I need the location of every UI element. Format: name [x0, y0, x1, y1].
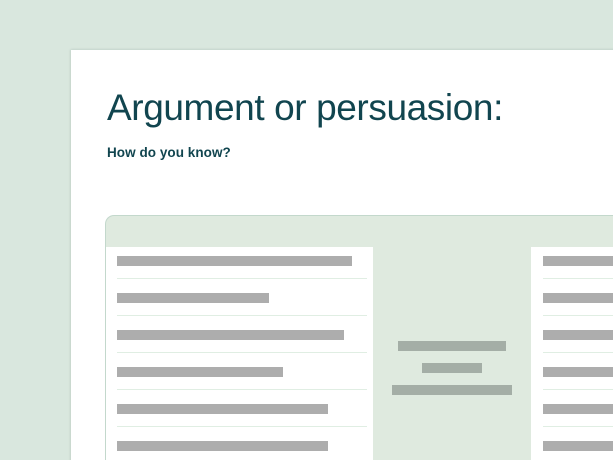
document-header: Argument or persuasion: How do you know?: [107, 86, 613, 161]
placeholder-text-bar: [117, 404, 328, 414]
placeholder-text-row: [531, 321, 613, 358]
placeholder-text-rule: [117, 352, 367, 353]
page-title: Argument or persuasion:: [107, 86, 613, 130]
placeholder-text-bar: [543, 367, 613, 377]
placeholder-text-rule: [117, 315, 367, 316]
placeholder-text-row: [106, 395, 373, 432]
document-card: Argument or persuasion: How do you know?: [71, 50, 613, 460]
placeholder-text-rule: [117, 389, 367, 390]
placeholder-text-row: [531, 432, 613, 460]
placeholder-text-rule: [543, 315, 613, 316]
middle-placeholder-bar: [398, 341, 506, 351]
placeholder-text-row: [106, 247, 373, 284]
page-subtitle: How do you know?: [107, 144, 613, 161]
placeholder-text-row: [106, 432, 373, 460]
document-preview-panel: [105, 215, 613, 460]
preview-middle-column: [373, 247, 531, 460]
placeholder-text-bar: [543, 293, 613, 303]
placeholder-text-rule: [117, 426, 367, 427]
placeholder-text-row: [106, 321, 373, 358]
middle-placeholder-bar: [392, 385, 512, 395]
placeholder-text-bar: [117, 441, 328, 451]
placeholder-text-bar: [543, 330, 613, 340]
middle-bar-stack: [373, 341, 531, 395]
screen-root: Argument or persuasion: How do you know?: [0, 0, 613, 460]
placeholder-text-bar: [117, 256, 352, 266]
placeholder-text-bar: [117, 293, 269, 303]
placeholder-text-bar: [543, 256, 613, 266]
placeholder-text-rule: [117, 278, 367, 279]
placeholder-text-row: [531, 395, 613, 432]
placeholder-text-row: [106, 358, 373, 395]
placeholder-text-row: [106, 284, 373, 321]
preview-left-column: [106, 247, 373, 460]
placeholder-text-rule: [543, 389, 613, 390]
placeholder-text-rule: [543, 426, 613, 427]
placeholder-text-row: [531, 284, 613, 321]
placeholder-text-bar: [117, 367, 283, 377]
placeholder-text-row: [531, 247, 613, 284]
preview-columns: [106, 247, 613, 460]
placeholder-text-bar: [543, 441, 613, 451]
preview-right-column: [531, 247, 613, 460]
placeholder-text-bar: [543, 404, 613, 414]
placeholder-text-bar: [117, 330, 344, 340]
middle-placeholder-bar: [422, 363, 482, 373]
placeholder-text-rule: [543, 352, 613, 353]
placeholder-text-rule: [543, 278, 613, 279]
placeholder-text-row: [531, 358, 613, 395]
